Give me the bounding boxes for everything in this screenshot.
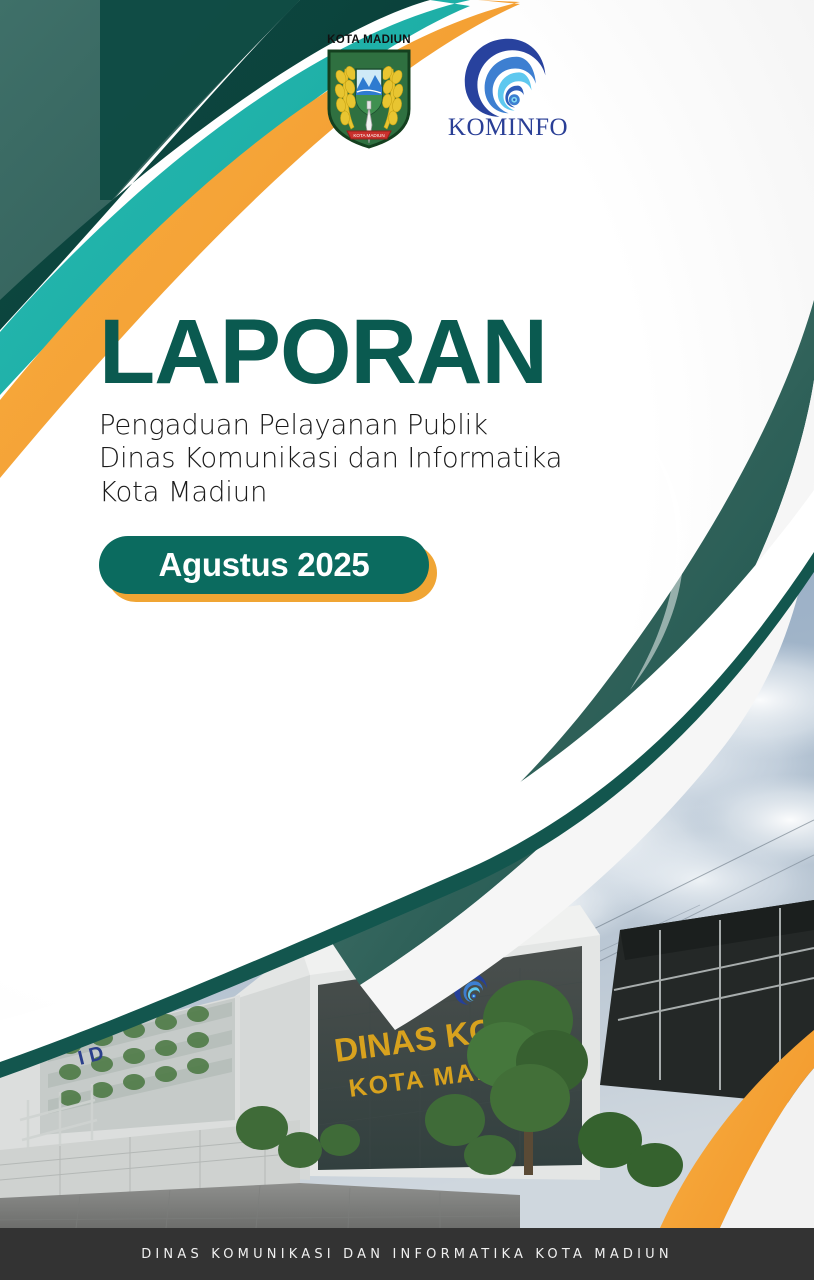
headline-block: LAPORAN Pengaduan Pelayanan Publik Dinas… <box>99 310 562 598</box>
kominfo-caption: KOMINFO <box>448 114 568 142</box>
report-cover-page: DINAS KOMIN KOTA MADIUN <box>0 0 814 1280</box>
subtitle-line-1: Pengaduan Pelayanan Publik <box>99 409 562 443</box>
kota-madiun-emblem: KOTA MADIUN <box>317 34 421 151</box>
kota-madiun-coat-of-arms-icon: KOTA MADIUN <box>323 47 415 151</box>
kominfo-wave-logo-icon <box>458 34 558 118</box>
period-badge-label: Agustus 2025 <box>159 546 370 584</box>
logo-group: KOTA MADIUN <box>0 34 814 151</box>
subtitle-line-3: Kota Madiun <box>99 476 562 510</box>
subtitle-line-2: Dinas Komunikasi dan Informatika <box>99 442 562 476</box>
svg-text:KOTA MADIUN: KOTA MADIUN <box>353 133 384 138</box>
period-badge: Agustus 2025 <box>99 536 429 598</box>
page-subtitle: Pengaduan Pelayanan Publik Dinas Komunik… <box>99 409 562 510</box>
emblem-caption: KOTA MADIUN <box>327 34 411 46</box>
footer-text: DINAS KOMUNIKASI DAN INFORMATIKA KOTA MA… <box>141 1247 673 1262</box>
footer-bar: DINAS KOMUNIKASI DAN INFORMATIKA KOTA MA… <box>0 1228 814 1280</box>
page-title: LAPORAN <box>99 310 562 395</box>
period-badge-body: Agustus 2025 <box>99 536 429 594</box>
kominfo-logo: KOMINFO <box>449 34 567 142</box>
decorative-swooshes <box>0 0 814 1280</box>
